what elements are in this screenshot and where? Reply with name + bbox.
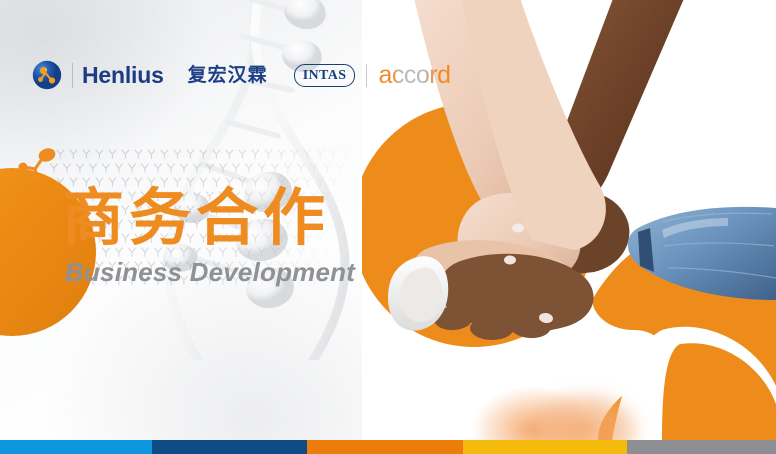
presentation-cover-slide: Henlius 复宏汉霖 INTAS accord 商务合作 Business … <box>0 0 776 454</box>
accord-logo[interactable]: accord <box>378 63 450 88</box>
page-title-chinese: 商务合作 <box>62 185 355 252</box>
segment-orange <box>307 440 463 454</box>
henlius-chinese-name[interactable]: 复宏汉霖 <box>188 66 268 85</box>
partner-logo-row: Henlius 复宏汉霖 INTAS accord <box>32 58 451 92</box>
segment-light-blue <box>0 440 152 454</box>
segment-yellow <box>463 440 627 454</box>
segment-gray <box>627 440 776 454</box>
segment-dark-blue <box>152 440 307 454</box>
accent-color-bar <box>0 440 776 454</box>
headline-block: 商务合作 Business Development <box>62 185 355 287</box>
intas-logo[interactable]: INTAS <box>294 64 356 87</box>
page-subtitle-english: Business Development <box>65 258 355 287</box>
intas-label: INTAS <box>303 68 347 83</box>
henlius-wordmark[interactable]: Henlius <box>82 64 164 87</box>
logo-divider-1 <box>72 63 73 88</box>
logo-divider-2 <box>366 64 367 87</box>
henlius-molecule-mark[interactable] <box>32 60 62 90</box>
antibody-molecule-icon <box>18 148 58 182</box>
intas-logo-box: INTAS <box>294 64 356 87</box>
